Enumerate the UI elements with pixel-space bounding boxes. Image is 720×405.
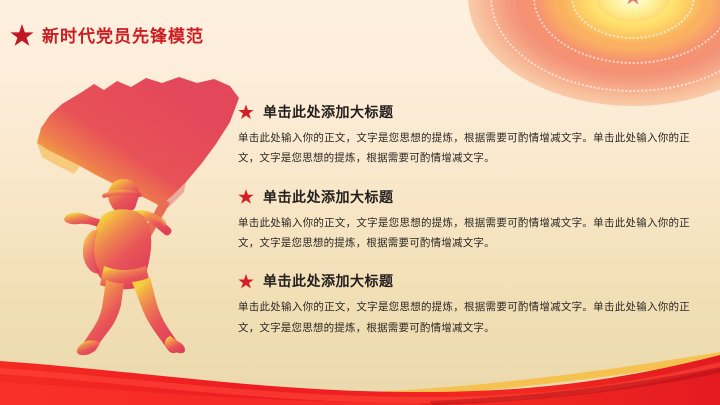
red-star-bullet-icon <box>238 274 254 290</box>
content-block-title: 单击此处添加大标题 <box>263 273 394 290</box>
red-star-bullet-icon <box>238 189 254 205</box>
starburst-ring-core <box>596 0 670 22</box>
starburst-decoration <box>468 0 720 106</box>
starburst-dotted-ring-3 <box>571 0 695 39</box>
starburst-ring-2 <box>515 0 720 75</box>
red-star-bullet-icon <box>238 104 254 120</box>
starburst-dotted-ring-1 <box>490 0 720 92</box>
content-block-header: 单击此处添加大标题 <box>238 273 690 290</box>
red-star-icon <box>10 24 34 48</box>
content-block: 单击此处添加大标题 单击此处输入你的正文，文字是您思想的提炼，根据需要可酌情增减… <box>238 273 690 338</box>
red-wave-ribbon <box>0 345 720 405</box>
content-block: 单击此处添加大标题 单击此处输入你的正文，文字是您思想的提炼，根据需要可酌情增减… <box>238 189 690 254</box>
content-block-header: 单击此处添加大标题 <box>238 104 690 121</box>
starburst-dotted-ring-2 <box>533 0 720 64</box>
starburst-ring-outer <box>468 0 720 106</box>
content-block-body: 单击此处输入你的正文，文字是您思想的提炼，根据需要可酌情增减文字。单击此处输入你… <box>238 297 690 338</box>
content-block-title: 单击此处添加大标题 <box>263 104 394 121</box>
content-block-header: 单击此处添加大标题 <box>238 189 690 206</box>
content-block: 单击此处添加大标题 单击此处输入你的正文，文字是您思想的提炼，根据需要可酌情增减… <box>238 104 690 169</box>
slide-header: 新时代党员先锋模范 <box>10 24 204 48</box>
page-title: 新时代党员先锋模范 <box>42 28 204 45</box>
starburst-center-star-icon <box>624 0 642 6</box>
content-block-title: 单击此处添加大标题 <box>263 189 394 206</box>
content-list: 单击此处添加大标题 单击此处输入你的正文，文字是您思想的提炼，根据需要可酌情增减… <box>238 104 690 338</box>
soldier-with-flag-illustration <box>34 70 249 360</box>
content-block-body: 单击此处输入你的正文，文字是您思想的提炼，根据需要可酌情增减文字。单击此处输入你… <box>238 128 690 169</box>
slide-canvas: 新时代党员先锋模范 <box>0 0 720 405</box>
starburst-ring-3 <box>557 0 709 47</box>
flag-shape <box>37 77 239 206</box>
content-block-body: 单击此处输入你的正文，文字是您思想的提炼，根据需要可酌情增减文字。单击此处输入你… <box>238 213 690 254</box>
